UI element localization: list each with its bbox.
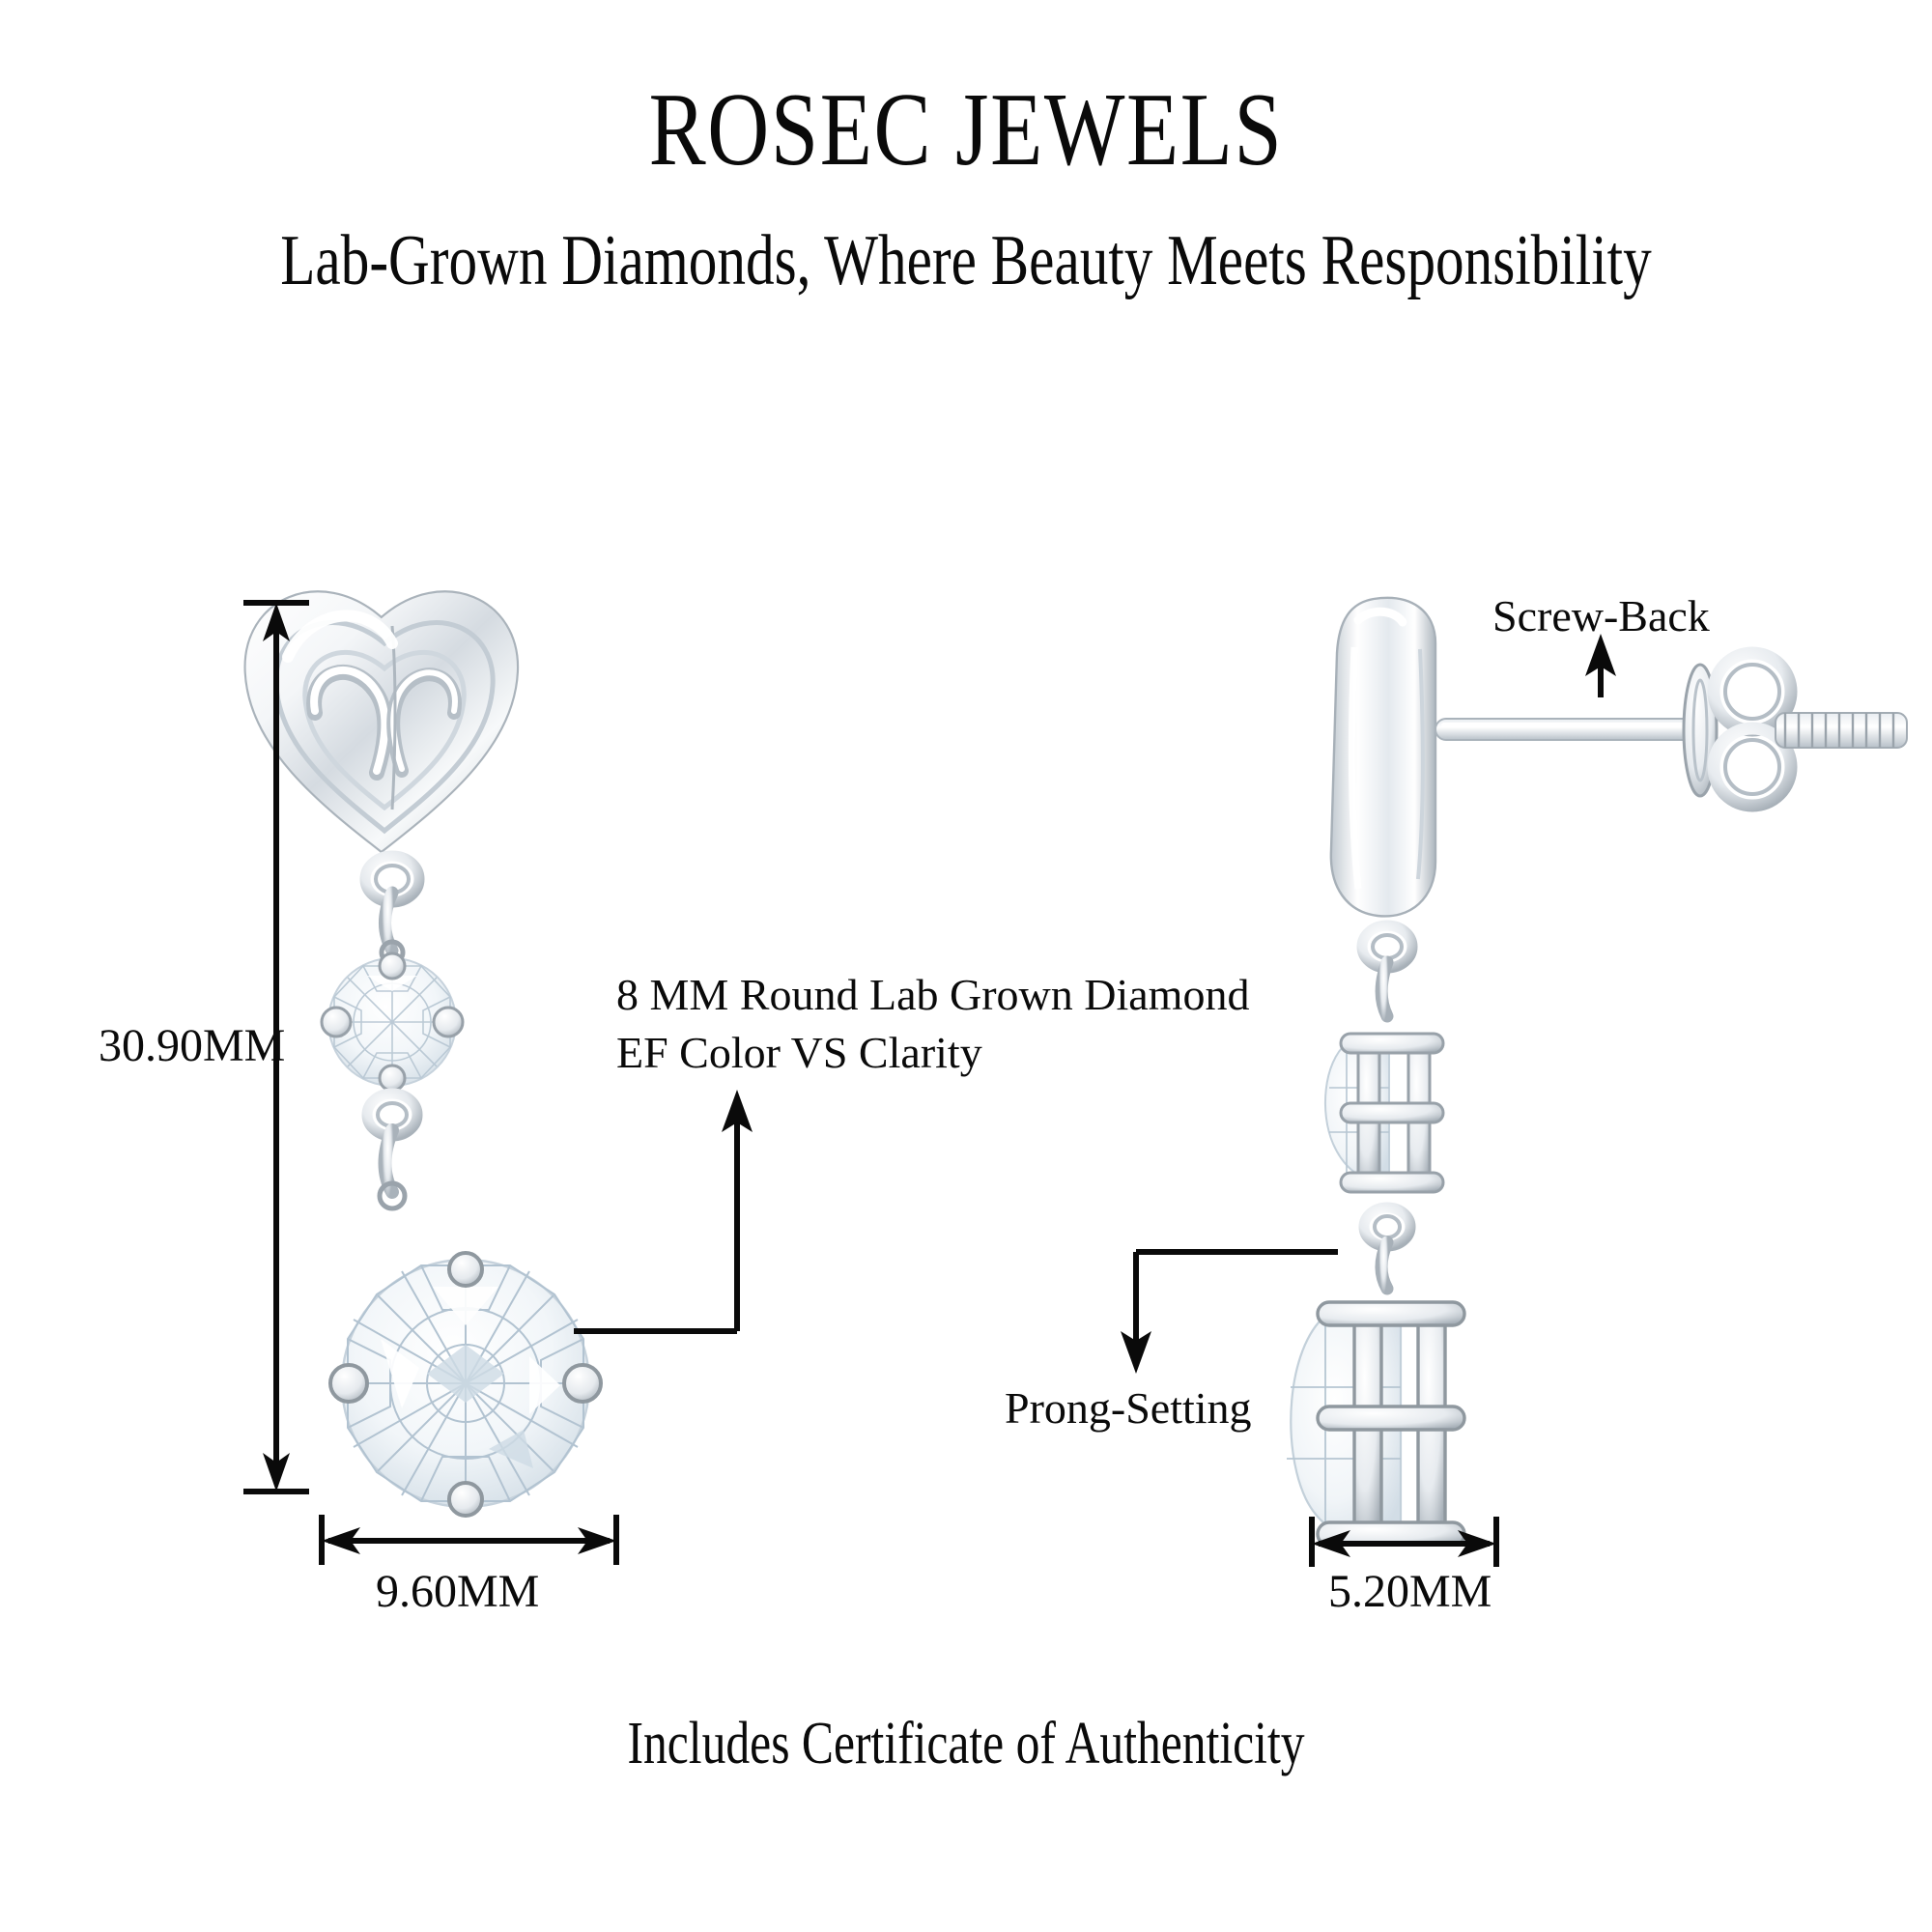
callout-diamond-line1: 8 MM Round Lab Grown Diamond xyxy=(616,966,1249,1024)
callout-diamond-line2: EF Color VS Clarity xyxy=(616,1024,1249,1082)
callout-screw-back: Screw-Back xyxy=(1492,587,1710,645)
certificate-note: Includes Certificate of Authenticity xyxy=(193,1710,1739,1778)
dimension-label-width-front: 9.60MM xyxy=(376,1565,539,1618)
dimension-label-height: 30.90MM xyxy=(99,1019,285,1072)
dimension-width-front xyxy=(322,1515,616,1565)
product-spec-canvas: ROSEC JEWELS Lab-Grown Diamonds, Where B… xyxy=(0,0,1932,1932)
callout-prong-setting: Prong-Setting xyxy=(1005,1379,1252,1437)
leader-prong-setting xyxy=(1121,1252,1338,1374)
dimension-width-side xyxy=(1312,1517,1496,1567)
dimension-label-width-side: 5.20MM xyxy=(1328,1565,1492,1618)
leader-diamond-callout xyxy=(574,1090,753,1331)
callout-diamond: 8 MM Round Lab Grown Diamond EF Color VS… xyxy=(616,966,1249,1082)
